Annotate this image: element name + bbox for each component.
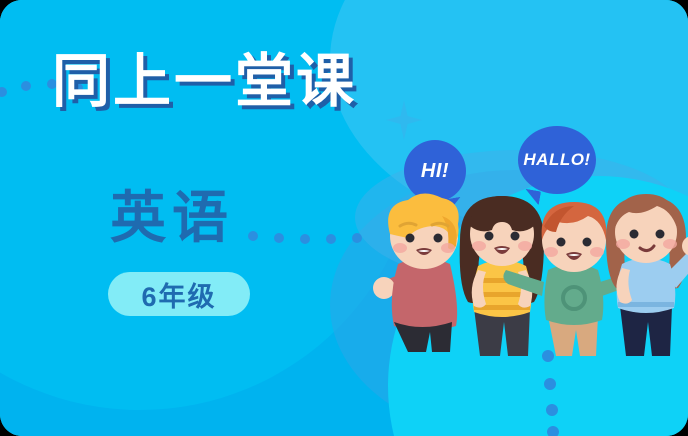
speech-bubble-hallo-text: HALLO! (523, 150, 590, 170)
trail-left-dot (21, 81, 31, 91)
trail-mid-dot (300, 234, 310, 244)
trail-bottom-dot (547, 426, 559, 436)
trail-mid-dot (352, 233, 362, 243)
trail-mid-dot (274, 233, 284, 243)
character-kid-4 (592, 190, 688, 358)
trail-mid-dot (326, 234, 336, 244)
grade-badge-label: 6年级 (141, 275, 216, 314)
speech-bubble-hallo: HALLO! (518, 126, 596, 194)
grade-badge: 6年级 (108, 272, 250, 316)
speech-bubble-hi-text: HI! (421, 160, 449, 183)
page-title: 同上一堂课 (52, 52, 357, 113)
trail-bottom-dot (544, 378, 556, 390)
trail-bottom-dot (546, 404, 558, 416)
lesson-banner-card: 同上一堂课 英语 6年级 HI! HALLO! (0, 0, 688, 436)
trail-mid-dot (248, 231, 258, 241)
subject-title: 英语 (110, 190, 234, 246)
